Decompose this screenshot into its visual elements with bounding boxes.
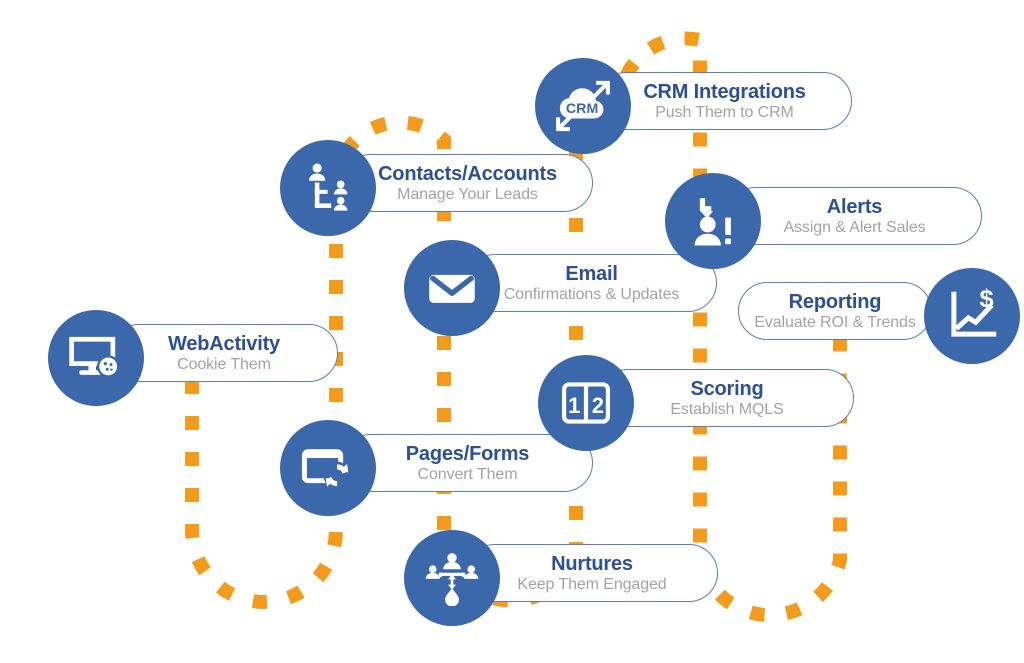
people-drip-icon [424,550,480,606]
svg-text:$: $ [979,287,993,313]
number-grid-icon: 1 2 [559,376,613,430]
svg-text:1: 1 [568,393,580,418]
node-subtitle-nurtures: Keep Them Engaged [517,575,666,594]
node-label-pill-crm-integrations: CRM IntegrationsPush Them to CRM [597,72,852,130]
node-web-activity[interactable]: WebActivityCookie Them [48,310,338,406]
node-subtitle-scoring: Establish MQLS [670,400,783,419]
org-chart-people-icon [299,159,357,217]
node-label-pill-reporting: ReportingEvaluate ROI & Trends [738,282,932,340]
node-title-crm-integrations: CRM Integrations [643,81,805,103]
node-title-contacts-accounts: Contacts/Accounts [378,163,557,185]
node-icon-circle-email[interactable] [404,240,500,336]
node-icon-circle-pages-forms[interactable] [280,420,376,516]
node-title-reporting: Reporting [789,291,882,313]
node-icon-circle-crm-integrations[interactable]: CRM [535,58,631,154]
node-title-alerts: Alerts [827,196,883,218]
node-label-pill-scoring: ScoringEstablish MQLS [600,369,854,427]
node-title-email: Email [565,263,617,285]
node-label-pill-contacts-accounts: Contacts/AccountsManage Your Leads [342,154,593,212]
node-subtitle-web-activity: Cookie Them [177,355,271,374]
node-label-pill-alerts: AlertsAssign & Alert Sales [727,187,982,245]
node-icon-circle-nurtures[interactable] [404,530,500,626]
node-crm-integrations[interactable]: CRM IntegrationsPush Them to CRM CRM [535,58,852,154]
envelope-icon [424,260,480,316]
node-icon-circle-scoring[interactable]: 1 2 [538,355,634,451]
node-icon-circle-reporting[interactable]: $ [924,268,1020,364]
infographic-canvas: WebActivityCookie Them Contacts/Accounts… [0,0,1024,663]
node-subtitle-contacts-accounts: Manage Your Leads [397,185,538,204]
node-alerts[interactable]: AlertsAssign & Alert Sales [665,173,982,269]
node-nurtures[interactable]: NurturesKeep Them Engaged [404,530,718,626]
node-icon-circle-alerts[interactable] [665,173,761,269]
node-contacts-accounts[interactable]: Contacts/AccountsManage Your Leads [280,140,593,236]
node-subtitle-pages-forms: Convert Them [418,465,518,484]
node-title-scoring: Scoring [690,378,763,400]
node-scoring[interactable]: ScoringEstablish MQLS 1 2 [538,355,854,451]
browser-refresh-icon [299,439,357,497]
node-reporting[interactable]: ReportingEvaluate ROI & Trends $ [738,268,994,364]
node-label-pill-nurtures: NurturesKeep Them Engaged [466,544,718,602]
node-label-pill-pages-forms: Pages/FormsConvert Them [342,434,593,492]
node-pages-forms[interactable]: Pages/FormsConvert Them [280,420,593,516]
person-alert-icon [685,193,741,249]
cloud-crm-sync-icon: CRM [551,77,615,135]
node-title-pages-forms: Pages/Forms [406,443,529,465]
svg-text:2: 2 [592,393,604,418]
monitor-cookie-icon [66,328,126,388]
node-subtitle-reporting: Evaluate ROI & Trends [754,313,916,332]
node-subtitle-email: Confirmations & Updates [504,285,680,304]
node-title-nurtures: Nurtures [551,553,633,575]
node-icon-circle-contacts-accounts[interactable] [280,140,376,236]
node-title-web-activity: WebActivity [168,333,280,355]
node-subtitle-alerts: Assign & Alert Sales [783,218,925,237]
node-icon-circle-web-activity[interactable] [48,310,144,406]
node-label-pill-web-activity: WebActivityCookie Them [110,324,338,382]
node-subtitle-crm-integrations: Push Them to CRM [655,103,794,122]
chart-dollar-icon: $ [943,287,1001,345]
